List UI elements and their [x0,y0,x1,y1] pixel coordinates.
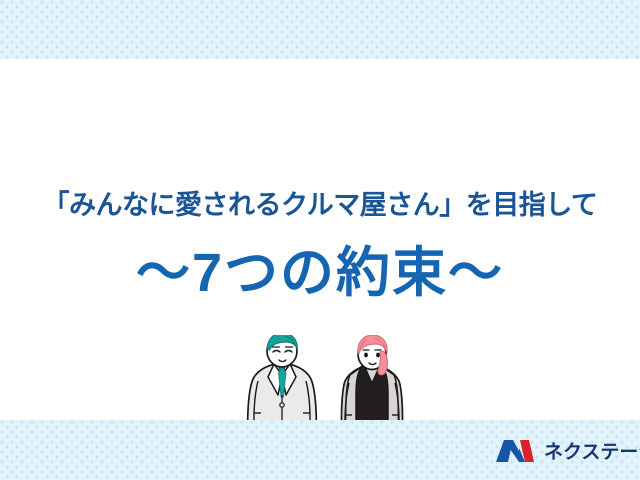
headline-primary: 「みんなに愛されるクルマ屋さん」を目指して [0,185,640,225]
nextage-n-mark-icon [495,438,535,464]
nextage-logo: ネクステージ [495,437,640,464]
white-content-panel: 「みんなに愛されるクルマ屋さん」を目指して ～7つの約束～ [0,59,640,420]
headline-secondary: ～7つの約束～ [0,237,640,309]
female-staff-figure [341,335,402,420]
slide-canvas: 「みんなに愛されるクルマ屋さん」を目指して ～7つの約束～ [0,0,640,480]
bowing-staff-illustration [240,335,420,420]
male-staff-figure [248,335,317,420]
nextage-wordmark: ネクステージ [544,437,640,464]
